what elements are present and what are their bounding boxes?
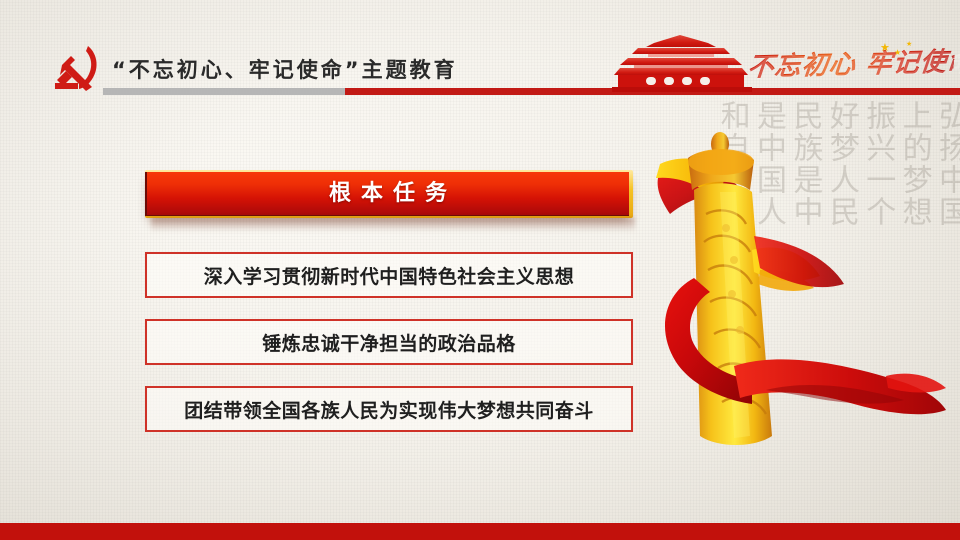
party-hammer-sickle-icon [48,42,104,94]
banner-face: 根本任务 [145,172,629,216]
section-title-banner: 根本任务 [145,170,633,218]
banner-label: 根本任务 [147,172,629,215]
slide-root: “不忘初心、牢记使命”主题教育 [0,0,960,540]
page-title: “不忘初心、牢记使命”主题教育 [112,54,458,84]
bullet-box-1[interactable]: 深入学习贯彻新时代中国特色社会主义思想 [145,252,633,298]
bullet-text-2: 锤炼忠诚干净担当的政治品格 [262,329,516,356]
gold-star-icon: ★ [906,41,912,48]
bullet-text-1: 深入学习贯彻新时代中国特色社会主义思想 [204,262,575,289]
bullet-text-3: 团结带领全国各族人民为实现伟大梦想共同奋斗 [184,396,594,423]
gold-star-icon: ★ [894,49,901,57]
calligraphy-slogan-text: 不忘初心 牢记使命 [746,41,956,84]
golden-dragon-pillar-icon [648,118,948,460]
header-rule-gray-segment [103,88,345,95]
bullet-box-2[interactable]: 锤炼忠诚干净担当的政治品格 [145,319,633,365]
bullet-box-3[interactable]: 团结带领全国各族人民为实现伟大梦想共同奋斗 [145,386,633,432]
gold-star-icon: ★ [880,42,890,53]
footer-accent-bar [0,523,960,540]
calligraphy-slogan: 不忘初心 牢记使命 ★ ★ ★ [748,40,954,96]
tiananmen-gate-icon [612,34,752,92]
banner-drop-shadow [151,218,635,232]
slide-header: “不忘初心、牢记使命”主题教育 [0,0,960,110]
